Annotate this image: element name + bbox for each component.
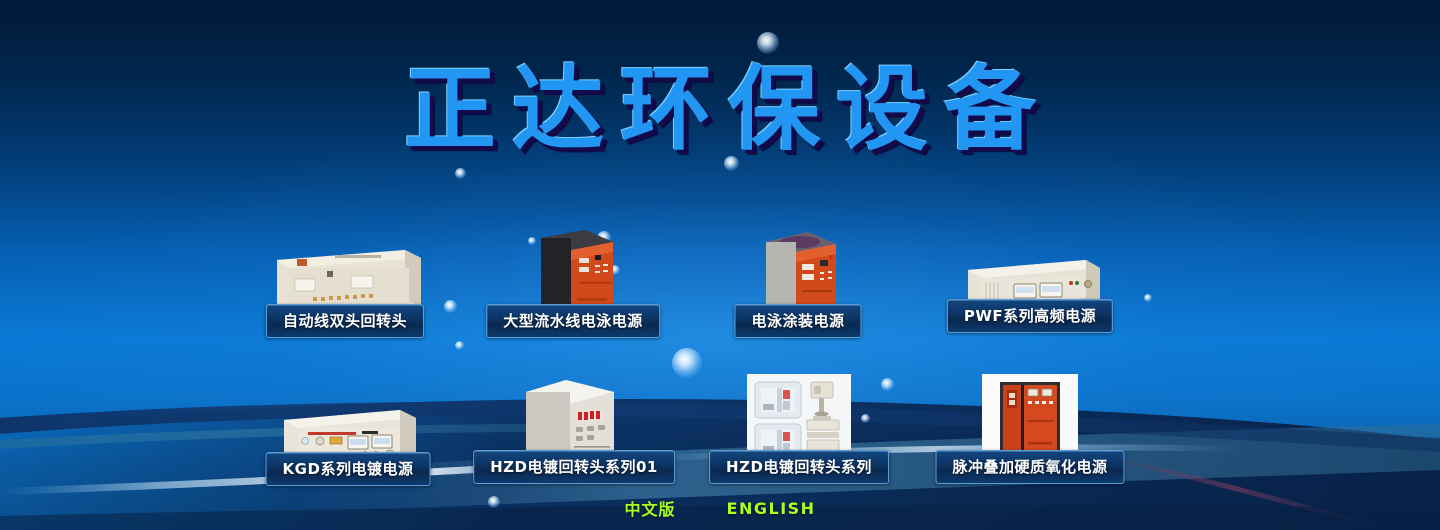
product-label[interactable]: PWF系列高频电源 [947,299,1113,333]
language-link-chinese[interactable]: 中文版 [624,496,675,520]
bokeh-dot [724,156,739,171]
bokeh-dot [1144,294,1152,302]
product-label[interactable]: 电泳涂装电源 [734,304,861,338]
product-item: KGD系列电镀电源 [268,352,428,480]
product-item: 自动线双头回转头 [265,200,425,330]
page-title-wrapper: 正达环保设备 [0,62,1440,159]
product-item: 脉冲叠加硬质氧化电源 [952,340,1108,480]
bokeh-dot [455,341,464,350]
product-label[interactable]: HZD电镀回转头系列01 [473,450,675,484]
product-item: 大型流水线电泳电源 [498,192,648,330]
product-label[interactable]: HZD电镀回转头系列 [709,450,889,484]
product-label[interactable]: 自动线双头回转头 [266,304,424,338]
page-title: 正达环保设备 [388,62,1052,159]
bokeh-dot [672,348,702,378]
splash-page: 正达环保设备 [0,0,1440,530]
product-item: HZD电镀回转头系列01 [500,344,648,480]
product-item: PWF系列高频电源 [950,205,1110,330]
bokeh-dot [444,300,457,313]
product-label[interactable]: KGD系列电镀电源 [266,452,431,486]
product-item: 电泳涂装电源 [723,192,873,330]
product-item: HZD电镀回转头系列 [725,340,873,480]
bokeh-dot [455,168,466,179]
language-link-english[interactable]: ENGLISH [727,499,816,518]
language-bar: 中文版 ENGLISH [0,496,1440,520]
product-label[interactable]: 大型流水线电泳电源 [486,304,660,338]
product-label[interactable]: 脉冲叠加硬质氧化电源 [935,450,1124,484]
bokeh-dot [881,378,894,391]
background-top-shade [0,0,1440,250]
bokeh-dot [757,32,779,54]
